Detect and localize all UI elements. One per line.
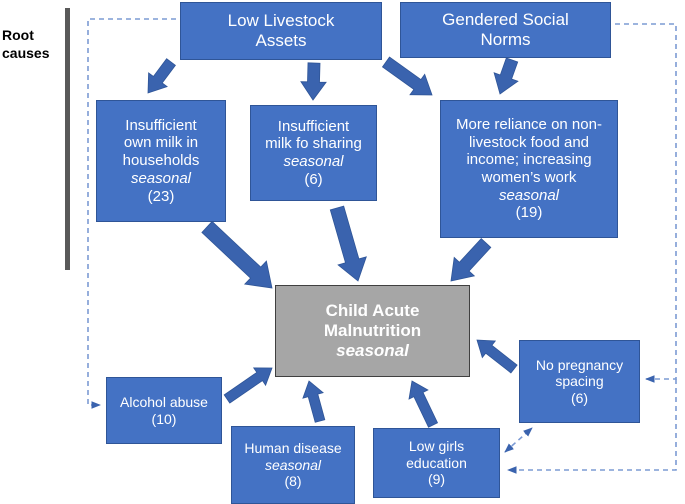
node-text-line: Alcohol abuse bbox=[120, 394, 208, 411]
node-text-line: (6) bbox=[571, 390, 588, 407]
node-text-line: seasonal bbox=[131, 170, 191, 188]
dashed-girls-education-to-pregnancy bbox=[505, 428, 532, 452]
node-text-line: Insufficient bbox=[278, 118, 349, 136]
node-text-line: income; increasing bbox=[466, 151, 591, 169]
node-text-line: livestock food and bbox=[469, 134, 589, 152]
node-text-line: (10) bbox=[152, 411, 177, 428]
node-text-line: Norms bbox=[480, 30, 530, 50]
causal-diagram: Root causes Low LivestockAssetsGendered … bbox=[0, 0, 685, 504]
node-low-livestock-assets[interactable]: Low LivestockAssets bbox=[180, 2, 382, 60]
node-text-line: Low Livestock bbox=[228, 11, 335, 31]
node-gendered-social-norms[interactable]: Gendered SocialNorms bbox=[400, 2, 611, 58]
node-no-pregnancy-spacing[interactable]: No pregnancyspacing(6) bbox=[519, 340, 640, 423]
node-alcohol-abuse[interactable]: Alcohol abuse(10) bbox=[106, 377, 222, 444]
node-text-line: milk fo sharing bbox=[265, 135, 362, 153]
arrow-pregnancy-to-center bbox=[477, 340, 517, 373]
arrow-own-milk-to-center bbox=[202, 222, 272, 289]
arrow-assets-to-own-milk bbox=[148, 59, 175, 93]
node-text-line: households bbox=[123, 152, 200, 170]
root-causes-label: Root causes bbox=[2, 27, 49, 63]
node-text-line: (23) bbox=[148, 188, 175, 206]
node-text-line: seasonal bbox=[265, 457, 321, 474]
node-text-line: women’s work bbox=[482, 169, 577, 187]
arrow-human-disease-to-center bbox=[303, 381, 325, 422]
node-text-line: Assets bbox=[255, 31, 306, 51]
dashed-norms-to-pregnancy bbox=[615, 24, 676, 379]
arrow-assets-to-more-reliance bbox=[383, 57, 433, 95]
node-text-line: Low girls bbox=[409, 438, 464, 455]
node-text-line: (6) bbox=[304, 171, 322, 189]
arrow-norms-to-more-reliance bbox=[494, 58, 518, 94]
node-child-acute-malnutrition[interactable]: Child AcuteMalnutritionseasonal bbox=[275, 285, 470, 377]
node-text-line: Gendered Social bbox=[442, 10, 569, 30]
node-text-line: More reliance on non- bbox=[456, 116, 602, 134]
node-more-reliance-non-livestock[interactable]: More reliance on non-livestock food andi… bbox=[440, 100, 618, 238]
arrow-more-reliance-to-center bbox=[451, 239, 491, 281]
node-text-line: Human disease bbox=[244, 440, 341, 457]
node-text-line: Child Acute bbox=[326, 301, 420, 321]
node-text-line: Insufficient bbox=[125, 117, 196, 135]
node-text-line: (8) bbox=[284, 473, 301, 490]
node-text-line: (9) bbox=[428, 471, 445, 488]
node-text-line: seasonal bbox=[499, 187, 559, 205]
node-text-line: seasonal bbox=[283, 153, 343, 171]
node-text-line: No pregnancy bbox=[536, 357, 623, 374]
arrow-alcohol-to-center bbox=[224, 368, 272, 403]
root-causes-bracket bbox=[65, 8, 70, 270]
node-insufficient-own-milk[interactable]: Insufficientown milk inhouseholdsseasona… bbox=[96, 100, 226, 222]
node-text-line: Malnutrition bbox=[324, 321, 421, 341]
node-text-line: spacing bbox=[555, 373, 603, 390]
arrow-assets-to-milk-sharing bbox=[301, 63, 326, 100]
node-text-line: seasonal bbox=[336, 341, 409, 361]
arrow-girls-education-to-center bbox=[409, 381, 438, 427]
node-text-line: education bbox=[406, 455, 467, 472]
arrow-milk-sharing-to-center bbox=[330, 206, 366, 281]
node-text-line: (19) bbox=[516, 204, 543, 222]
node-insufficient-milk-for-sharing[interactable]: Insufficientmilk fo sharingseasonal(6) bbox=[250, 105, 377, 201]
node-human-disease[interactable]: Human diseaseseasonal(8) bbox=[231, 426, 355, 504]
node-text-line: own milk in bbox=[124, 134, 198, 152]
node-low-girls-education[interactable]: Low girlseducation(9) bbox=[373, 428, 500, 498]
